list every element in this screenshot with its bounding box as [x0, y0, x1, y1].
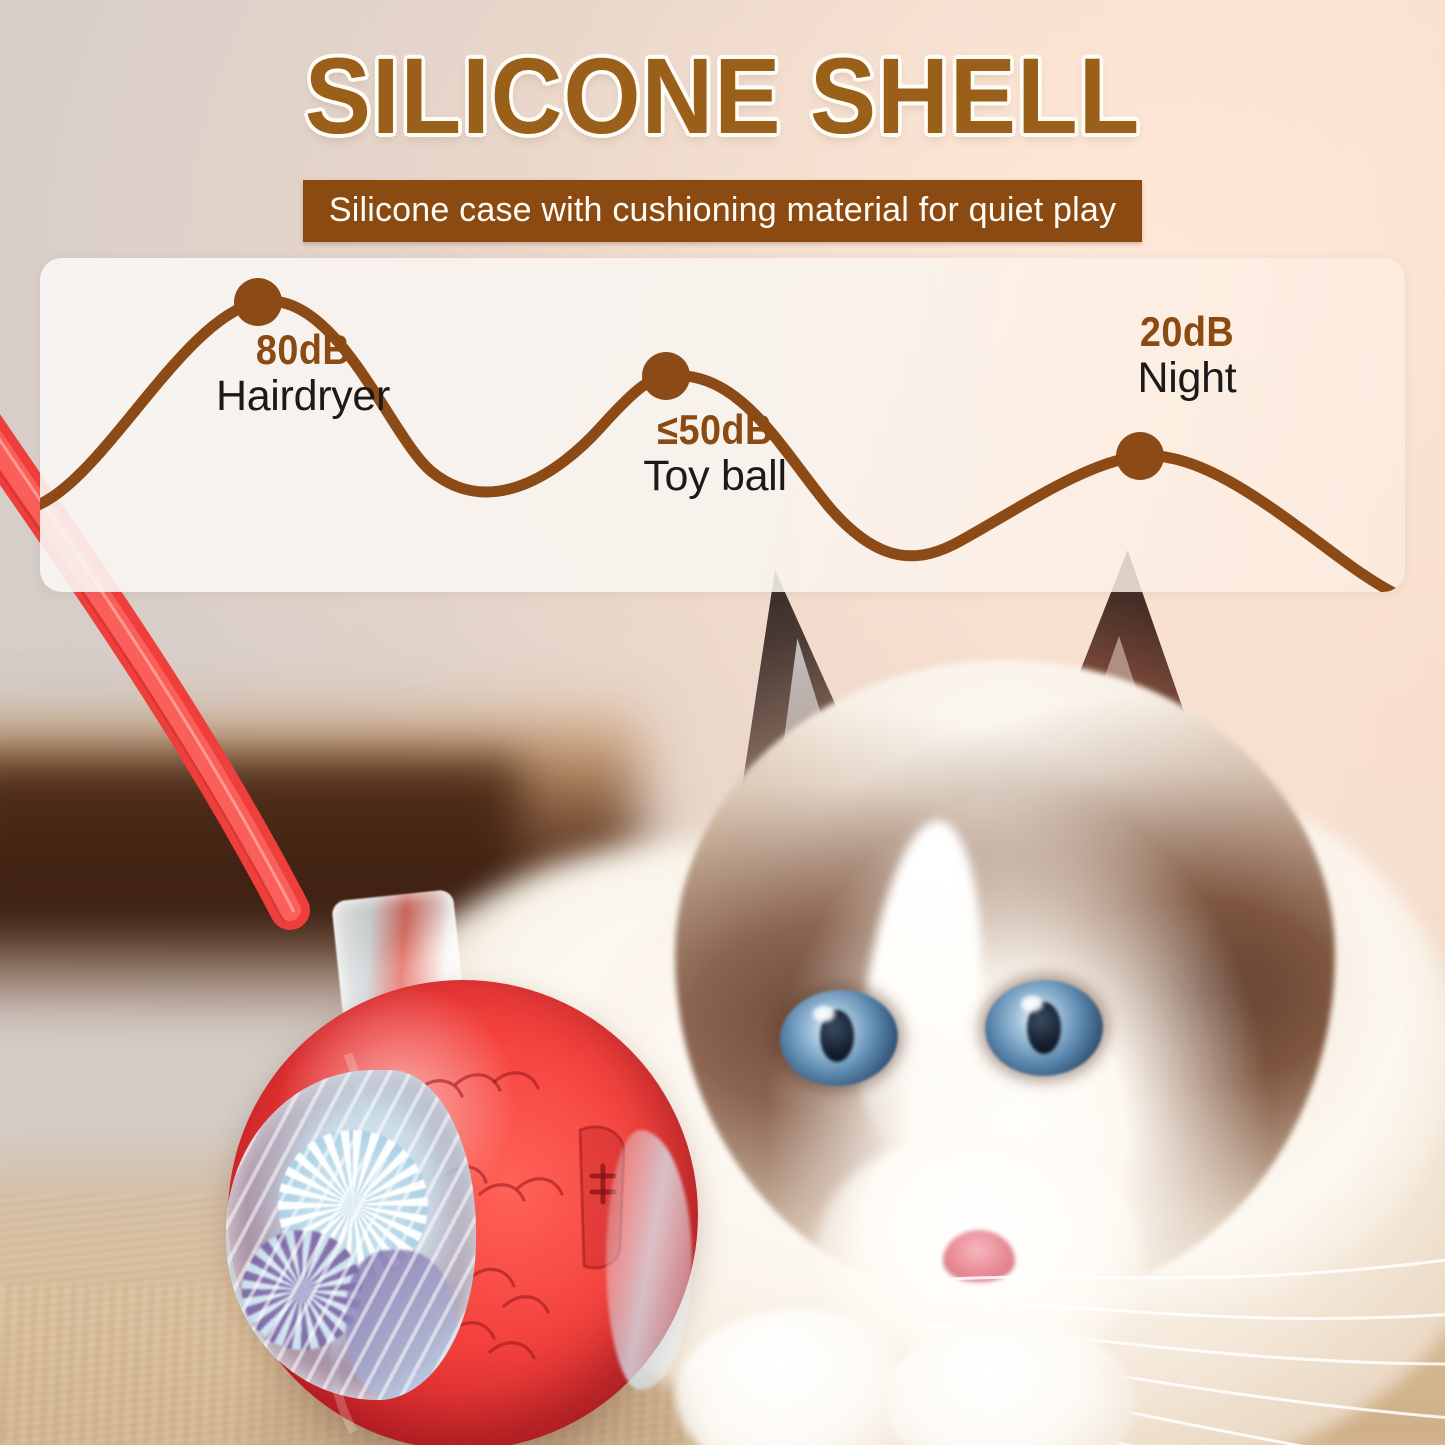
noise-name-toyball: Toy ball — [570, 452, 860, 500]
cat-eye-highlight-left — [813, 1006, 835, 1022]
cat-toy-ball — [218, 960, 738, 1445]
noise-label-hairdryer: 80dB Hairdryer — [158, 328, 448, 420]
noise-value-toyball: ≤50dB — [585, 408, 846, 452]
noise-value-hairdryer: 80dB — [173, 328, 434, 372]
noise-name-night: Night — [1042, 354, 1332, 402]
noise-comparison-card: 80dB Hairdryer ≤50dB Toy ball 20dB Night — [40, 258, 1405, 592]
noise-name-hairdryer: Hairdryer — [158, 372, 448, 420]
subtitle-text: Silicone case with cushioning material f… — [303, 180, 1142, 242]
noise-label-night: 20dB Night — [1042, 310, 1332, 402]
peak-dot-toyball — [642, 352, 690, 400]
cat-eye-highlight-right — [1021, 996, 1043, 1012]
ball-clear-reflections — [226, 1070, 476, 1400]
subtitle-bar: Silicone case with cushioning material f… — [0, 180, 1445, 242]
noise-label-toyball: ≤50dB Toy ball — [570, 408, 860, 500]
product-infographic: SILICONE SHELL Silicone case with cushio… — [0, 0, 1445, 1445]
page-title: SILICONE SHELL — [58, 42, 1387, 150]
peak-dot-night — [1116, 432, 1164, 480]
noise-value-night: 20dB — [1057, 310, 1318, 354]
ball-transparent-window — [226, 1070, 476, 1400]
peak-dot-hairdryer — [234, 278, 282, 326]
